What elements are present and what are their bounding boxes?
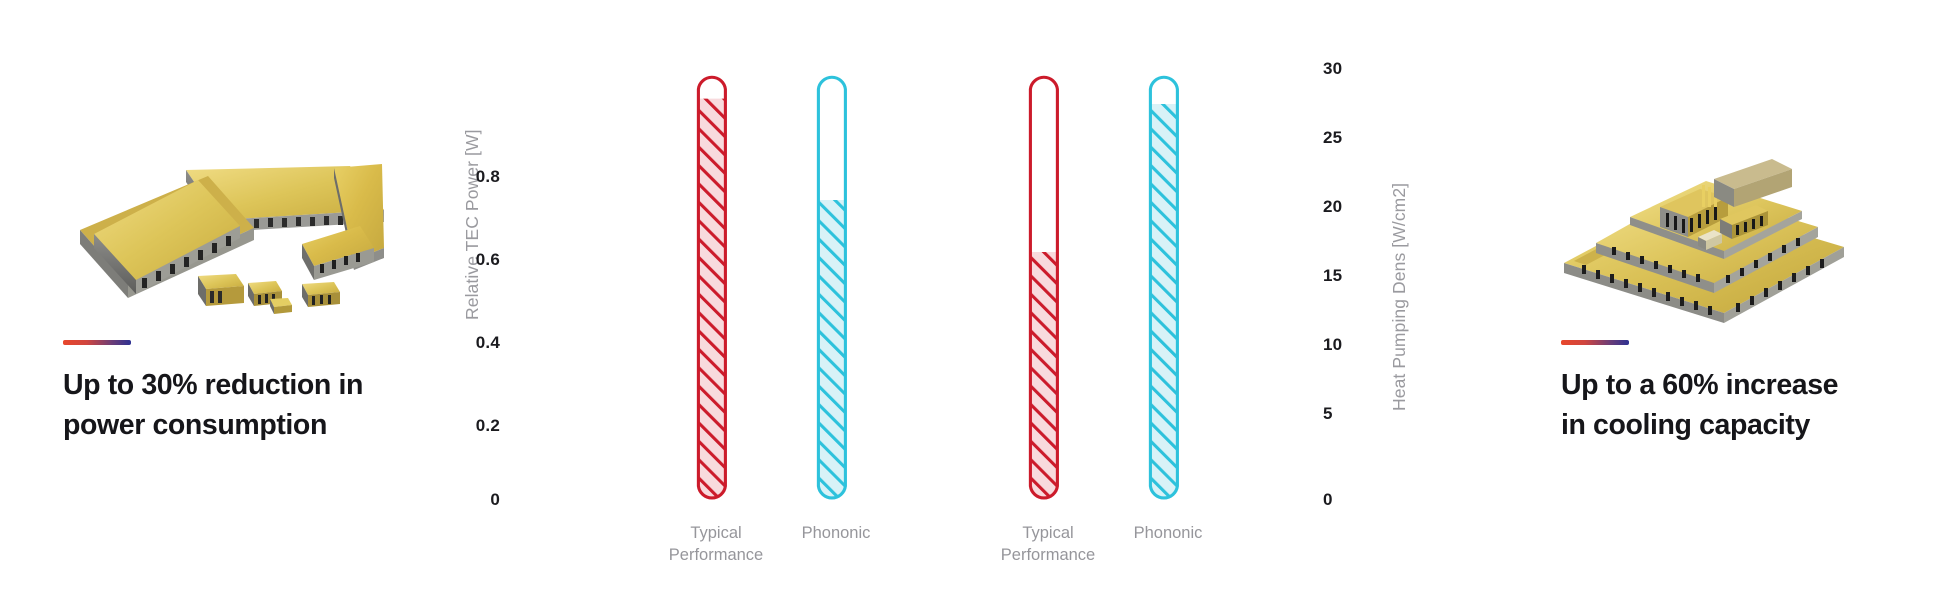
left-tick-0.8: 0.8 [450,167,500,187]
right-headline: Up to a 60% increase in cooling capacity [1561,365,1957,446]
right-tick-0: 0 [1323,490,1373,510]
category-label-line-2: Performance [616,544,816,566]
right-tick-15: 15 [1323,266,1373,286]
tec-modules-assortment-image [58,108,408,323]
accent-rule [63,340,131,345]
left-headline-line-2: power consumption [63,405,493,445]
left-tick-0.2: 0.2 [450,416,500,436]
left-tick-0.4: 0.4 [450,333,500,353]
category-label-line-1: Phononic [736,522,936,544]
right-stat-panel: Up to a 60% increase in cooling capacity [1556,0,1957,593]
left-headline: Up to 30% reduction in power consumption [63,365,493,446]
right-axis-title: Heat Pumping Dens [W/cm2] [1389,183,1410,411]
left-stat-panel: Up to 30% reduction in power consumption [58,0,488,593]
left-tick-0.6: 0.6 [450,250,500,270]
category-label-phononic-2: Phononic [1068,522,1268,544]
right-tick-10: 10 [1323,335,1373,355]
right-tick-20: 20 [1323,197,1373,217]
right-headline-line-1: Up to a 60% increase [1561,365,1957,405]
right-headline-line-2: in cooling capacity [1561,405,1957,445]
category-label-line-1: Phononic [1068,522,1268,544]
comparison-chart: Relative TEC Power [W] 0.8 0.6 0.4 0.2 0 [555,0,1455,593]
infographic-root: Up to 30% reduction in power consumption… [0,0,1957,593]
accent-rule [1561,340,1629,345]
tec-stacked-assembly-image [1556,155,1856,325]
left-tick-0: 0 [450,490,500,510]
category-label-phononic-1: Phononic [736,522,936,544]
left-headline-line-1: Up to 30% reduction in [63,365,493,405]
left-axis-title: Relative TEC Power [W] [462,129,483,320]
category-label-line-2: Performance [948,544,1148,566]
right-tick-30: 30 [1323,59,1373,79]
right-tick-25: 25 [1323,128,1373,148]
right-tick-5: 5 [1323,404,1373,424]
